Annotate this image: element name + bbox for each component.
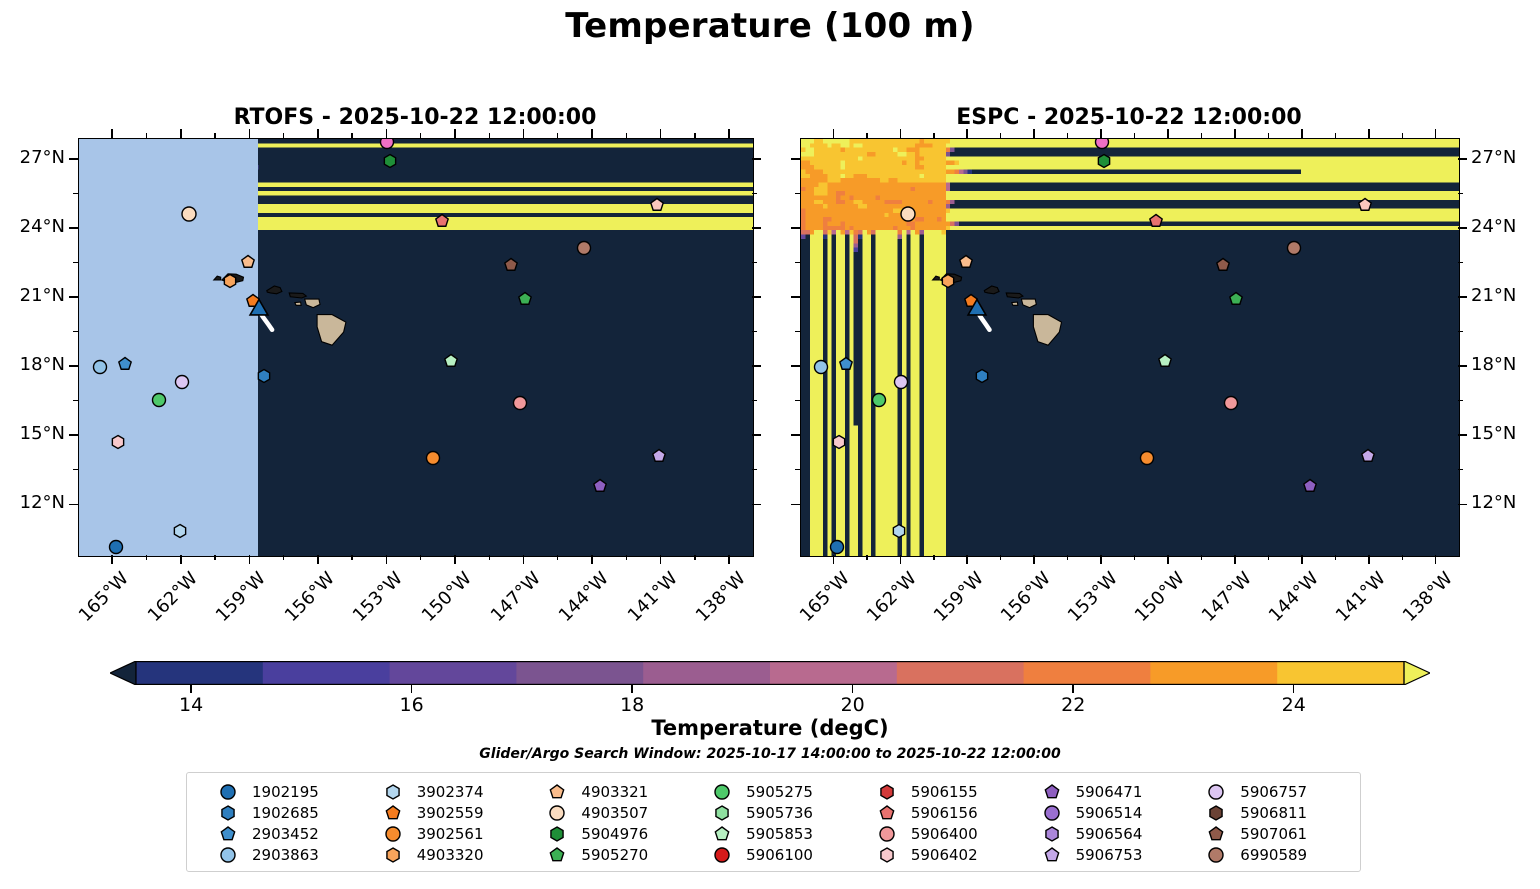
legend-label: 1902685 bbox=[252, 804, 319, 822]
colorbar-tick bbox=[852, 685, 854, 693]
x-tick-minor bbox=[1201, 555, 1202, 560]
legend-label: 5905270 bbox=[581, 846, 648, 864]
x-tick-minor bbox=[1268, 555, 1269, 560]
x-tick-minor-top bbox=[933, 133, 934, 138]
x-tick-major-top bbox=[523, 129, 525, 138]
map-marker-5906757[interactable] bbox=[893, 374, 910, 391]
legend-marker-pentagon-icon bbox=[542, 782, 572, 802]
x-tick-minor-top bbox=[146, 133, 147, 138]
x-tick-major bbox=[1234, 555, 1236, 564]
y-tick-minor-right bbox=[1458, 400, 1463, 401]
legend-marker-pentagon-icon bbox=[213, 824, 243, 844]
x-tick-minor bbox=[626, 555, 627, 560]
colorbar-tick-label: 14 bbox=[179, 694, 203, 716]
x-tick-major-top bbox=[1234, 129, 1236, 138]
y-tick-major-right bbox=[1458, 434, 1467, 436]
legend-item-4903320[interactable]: 4903320 bbox=[362, 845, 527, 865]
x-tick-minor bbox=[1067, 555, 1068, 560]
legend-marker-circle-icon bbox=[378, 824, 408, 844]
legend-marker-pentagon-icon bbox=[872, 803, 902, 823]
map-marker-1902195[interactable] bbox=[828, 538, 845, 555]
legend-label: 1902195 bbox=[252, 783, 319, 801]
map-marker-3902561[interactable] bbox=[1138, 450, 1155, 467]
legend-label: 3902374 bbox=[417, 783, 484, 801]
colorbar-tick-label: 20 bbox=[841, 694, 865, 716]
map-marker-4903321[interactable] bbox=[240, 254, 257, 271]
legend-marker-circle-icon bbox=[213, 845, 243, 865]
x-tick-minor bbox=[694, 555, 695, 560]
legend-item-1902195[interactable]: 1902195 bbox=[197, 782, 362, 802]
x-tick-major-top bbox=[180, 129, 182, 138]
legend-item-3902561[interactable]: 3902561 bbox=[362, 824, 527, 844]
legend-label: 5906564 bbox=[1076, 825, 1143, 843]
y-tick-minor-right bbox=[752, 331, 757, 332]
legend-label: 6990589 bbox=[1240, 846, 1307, 864]
y-tick-minor bbox=[795, 331, 800, 332]
map-marker-5905270[interactable] bbox=[516, 291, 533, 308]
map-marker-5906471[interactable] bbox=[1301, 477, 1318, 494]
figure-title: Temperature (100 m) bbox=[0, 6, 1540, 46]
map-marker-5906757[interactable] bbox=[173, 374, 190, 391]
y-tick-major bbox=[791, 296, 800, 298]
legend-item-5906156[interactable]: 5906156 bbox=[856, 803, 1021, 823]
panel-title-espc: ESPC - 2025-10-22 12:00:00 bbox=[800, 105, 1458, 130]
map-marker-5906471[interactable] bbox=[591, 477, 608, 494]
x-tick-major-top bbox=[1368, 129, 1370, 138]
x-tick-minor bbox=[146, 555, 147, 560]
colorbar-segment bbox=[1150, 661, 1277, 685]
y-tick-major-right bbox=[1458, 296, 1467, 298]
legend-marker-circle-icon bbox=[707, 845, 737, 865]
map-marker-5906156[interactable] bbox=[434, 212, 451, 229]
map-marker-sg626[interactable] bbox=[249, 298, 270, 319]
legend-label: 5906753 bbox=[1076, 846, 1143, 864]
y-tick-minor bbox=[73, 331, 78, 332]
legend-marker-hexagon-icon bbox=[707, 803, 737, 823]
map-marker-2903452[interactable] bbox=[837, 355, 854, 372]
x-tick-minor bbox=[1000, 555, 1001, 560]
legend-label: 5906155 bbox=[911, 783, 978, 801]
y-tick-minor-right bbox=[752, 193, 757, 194]
x-tick-minor bbox=[214, 555, 215, 560]
y-tick-label: 27°N bbox=[1471, 147, 1540, 168]
x-tick-minor bbox=[557, 555, 558, 560]
y-tick-major bbox=[791, 434, 800, 436]
y-tick-major bbox=[69, 434, 78, 436]
y-tick-minor-right bbox=[752, 262, 757, 263]
legend-label: 4903321 bbox=[581, 783, 648, 801]
map-marker-5906156[interactable] bbox=[1147, 212, 1164, 229]
colorbar-segment bbox=[263, 661, 390, 685]
legend-item-5904976[interactable]: 5904976 bbox=[526, 824, 691, 844]
x-tick-minor bbox=[1402, 555, 1403, 560]
colorbar-segment bbox=[390, 661, 517, 685]
map-marker-6990589[interactable] bbox=[1285, 240, 1302, 257]
x-tick-major bbox=[180, 555, 182, 564]
y-tick-major bbox=[69, 504, 78, 506]
x-tick-major bbox=[1100, 555, 1102, 564]
y-tick-major bbox=[69, 227, 78, 229]
x-tick-major bbox=[111, 555, 113, 564]
legend-item-1902685[interactable]: 1902685 bbox=[197, 803, 362, 823]
legend-label: 3902561 bbox=[417, 825, 484, 843]
x-tick-major bbox=[660, 555, 662, 564]
x-tick-major bbox=[523, 555, 525, 564]
colorbar-segment bbox=[516, 661, 643, 685]
x-tick-minor-top bbox=[214, 133, 215, 138]
y-tick-label: 12°N bbox=[1471, 492, 1540, 513]
y-tick-major-right bbox=[752, 434, 761, 436]
legend-item-5906471[interactable]: 5906471 bbox=[1021, 782, 1186, 802]
y-tick-major-right bbox=[752, 365, 761, 367]
map-marker-5906402[interactable] bbox=[109, 433, 126, 450]
legend-item-5906753[interactable]: 5906753 bbox=[1021, 845, 1186, 865]
map-marker-2903863[interactable] bbox=[91, 359, 108, 376]
colorbar-tick bbox=[411, 685, 413, 693]
map-marker-5906753[interactable] bbox=[1359, 447, 1376, 464]
island-outline bbox=[933, 276, 940, 280]
x-tick-major-top bbox=[1100, 129, 1102, 138]
map-axes-espc[interactable] bbox=[800, 138, 1460, 557]
map-marker-7902266[interactable] bbox=[1094, 138, 1111, 151]
map-marker-5904976[interactable] bbox=[1096, 152, 1113, 169]
legend-item-5906402[interactable]: 5906402 bbox=[856, 845, 1021, 865]
y-tick-minor bbox=[73, 400, 78, 401]
x-tick-minor-top bbox=[351, 133, 352, 138]
legend-label: 2903863 bbox=[252, 846, 319, 864]
x-tick-minor bbox=[1335, 555, 1336, 560]
map-marker-7902266[interactable] bbox=[379, 138, 396, 151]
map-marker-1902685[interactable] bbox=[973, 368, 990, 385]
map-marker-6990589[interactable] bbox=[575, 240, 592, 257]
colorbar-tick bbox=[1072, 685, 1074, 693]
panel-title-rtofs: RTOFS - 2025-10-22 12:00:00 bbox=[78, 105, 752, 130]
legend-marker-hexagon-icon bbox=[1201, 803, 1231, 823]
legend-item-4903321[interactable]: 4903321 bbox=[526, 782, 691, 802]
legend-marker-circle-icon bbox=[872, 824, 902, 844]
legend-marker-circle-icon bbox=[1201, 782, 1231, 802]
legend-label: 5905853 bbox=[746, 825, 813, 843]
island-outline bbox=[289, 293, 306, 298]
map-marker-2903863[interactable] bbox=[813, 359, 830, 376]
colorbar-label: Temperature (degC) bbox=[0, 716, 1540, 740]
colorbar-extend-low bbox=[110, 661, 136, 685]
map-marker-5906400[interactable] bbox=[1223, 394, 1240, 411]
map-marker-4903320[interactable] bbox=[221, 272, 238, 289]
y-tick-major-right bbox=[1458, 365, 1467, 367]
map-marker-5906402[interactable] bbox=[830, 433, 847, 450]
y-tick-major bbox=[69, 296, 78, 298]
island-outline bbox=[984, 286, 999, 294]
legend-item-5905275[interactable]: 5905275 bbox=[691, 782, 856, 802]
x-tick-major bbox=[1435, 555, 1437, 564]
y-tick-minor-right bbox=[1458, 469, 1463, 470]
legend-label: 5906402 bbox=[911, 846, 978, 864]
x-tick-major-top bbox=[1167, 129, 1169, 138]
x-tick-minor-top bbox=[1335, 133, 1336, 138]
legend-item-5906155[interactable]: 5906155 bbox=[856, 782, 1021, 802]
colorbar-tick-label: 24 bbox=[1282, 694, 1306, 716]
legend-marker-circle-icon bbox=[707, 782, 737, 802]
legend-label: 5906156 bbox=[911, 804, 978, 822]
island-outline bbox=[1033, 315, 1061, 346]
colorbar-tick-label: 16 bbox=[400, 694, 424, 716]
y-tick-label: 18°N bbox=[0, 354, 65, 375]
colorbar-tick bbox=[631, 685, 633, 693]
legend-marker-hexagon-icon bbox=[872, 845, 902, 865]
x-tick-minor bbox=[1134, 555, 1135, 560]
legend-marker-circle-icon bbox=[213, 782, 243, 802]
x-tick-major bbox=[591, 555, 593, 564]
legend-marker-hexagon-icon bbox=[378, 782, 408, 802]
legend-item-5905853[interactable]: 5905853 bbox=[691, 824, 856, 844]
x-tick-major bbox=[966, 555, 968, 564]
legend-marker-circle-icon bbox=[1037, 803, 1067, 823]
x-tick-minor-top bbox=[420, 133, 421, 138]
legend-marker-pentagon-icon bbox=[707, 824, 737, 844]
x-tick-major-top bbox=[317, 129, 319, 138]
legend-marker-pentagon-icon bbox=[1201, 824, 1231, 844]
y-tick-minor-right bbox=[1458, 331, 1463, 332]
map-marker-4903507[interactable] bbox=[899, 205, 917, 223]
x-tick-minor-top bbox=[694, 133, 695, 138]
colorbar-segment bbox=[897, 661, 1024, 685]
x-tick-minor bbox=[866, 555, 867, 560]
legend-marker-pentagon-icon bbox=[1037, 782, 1067, 802]
island-outline bbox=[317, 315, 346, 346]
legend-label: 3902559 bbox=[417, 804, 484, 822]
x-tick-minor-top bbox=[557, 133, 558, 138]
legend-label: 5906471 bbox=[1076, 783, 1143, 801]
x-tick-major bbox=[1167, 555, 1169, 564]
map-marker-1902685[interactable] bbox=[256, 368, 273, 385]
y-tick-minor bbox=[73, 193, 78, 194]
island-outline bbox=[214, 276, 221, 280]
x-tick-major-top bbox=[1435, 129, 1437, 138]
legend-label: 5906811 bbox=[1240, 804, 1307, 822]
colorbar-segment bbox=[136, 661, 263, 685]
map-marker-5904976[interactable] bbox=[381, 152, 398, 169]
x-tick-major bbox=[1033, 555, 1035, 564]
legend-item-5906100[interactable]: 5906100 bbox=[691, 845, 856, 865]
x-tick-minor-top bbox=[1201, 133, 1202, 138]
legend-item-5906564[interactable]: 5906564 bbox=[1021, 824, 1186, 844]
x-tick-major bbox=[728, 555, 730, 564]
island-outline bbox=[1006, 293, 1023, 298]
x-tick-major-top bbox=[660, 129, 662, 138]
x-tick-major-top bbox=[900, 129, 902, 138]
map-marker-4903507[interactable] bbox=[180, 205, 198, 223]
y-tick-label: 15°N bbox=[1471, 423, 1540, 444]
legend-grid: 1902195190268529034522903863390237439025… bbox=[197, 781, 1350, 865]
y-tick-major-right bbox=[752, 504, 761, 506]
x-tick-minor-top bbox=[626, 133, 627, 138]
x-tick-minor-top bbox=[1402, 133, 1403, 138]
legend-marker-hexagon-icon bbox=[872, 782, 902, 802]
colorbar-tick-label: 18 bbox=[620, 694, 644, 716]
legend-item-5906757[interactable]: 5906757 bbox=[1185, 782, 1350, 802]
y-tick-label: 21°N bbox=[1471, 285, 1540, 306]
legend-item-4903507[interactable]: 4903507 bbox=[526, 803, 691, 823]
colorbar-extend-high bbox=[1404, 661, 1430, 685]
y-tick-major-right bbox=[752, 227, 761, 229]
y-tick-minor bbox=[795, 193, 800, 194]
map-marker-4903321[interactable] bbox=[958, 254, 975, 271]
legend-item-2903452[interactable]: 2903452 bbox=[197, 824, 362, 844]
y-tick-major bbox=[69, 158, 78, 160]
y-tick-major-right bbox=[1458, 227, 1467, 229]
y-tick-major-right bbox=[1458, 158, 1467, 160]
legend-marker-hexagon-icon bbox=[213, 803, 243, 823]
map-marker-5906753[interactable] bbox=[651, 447, 668, 464]
y-tick-major bbox=[791, 365, 800, 367]
map-axes-rtofs[interactable] bbox=[78, 138, 754, 557]
x-tick-major-top bbox=[249, 129, 251, 138]
x-tick-major bbox=[454, 555, 456, 564]
y-tick-minor bbox=[795, 262, 800, 263]
y-tick-major bbox=[69, 365, 78, 367]
x-tick-major bbox=[386, 555, 388, 564]
legend-marker-hexagon-icon bbox=[1037, 824, 1067, 844]
x-tick-major bbox=[833, 555, 835, 564]
x-tick-major-top bbox=[454, 129, 456, 138]
legend-marker-pentagon-icon bbox=[542, 845, 572, 865]
y-tick-label: 18°N bbox=[1471, 354, 1540, 375]
map-marker-3902561[interactable] bbox=[425, 450, 442, 467]
x-tick-major-top bbox=[728, 129, 730, 138]
map-marker-3902374[interactable] bbox=[171, 522, 188, 539]
legend-item-5906400[interactable]: 5906400 bbox=[856, 824, 1021, 844]
legend-label: 2903452 bbox=[252, 825, 319, 843]
map-marker-7901106[interactable] bbox=[1357, 196, 1374, 213]
x-tick-major bbox=[317, 555, 319, 564]
map-marker-5907061[interactable] bbox=[502, 256, 519, 273]
x-tick-major bbox=[1301, 555, 1303, 564]
island-outline bbox=[267, 286, 282, 294]
x-tick-minor-top bbox=[1134, 133, 1135, 138]
legend-item-6990589[interactable]: 6990589 bbox=[1185, 845, 1350, 865]
map-marker-5905853[interactable] bbox=[1156, 353, 1173, 370]
marker-legend: 1902195190268529034522903863390237439025… bbox=[186, 772, 1361, 872]
y-tick-minor bbox=[73, 262, 78, 263]
y-tick-label: 27°N bbox=[0, 147, 65, 168]
colorbar-gradient bbox=[110, 661, 1430, 685]
colorbar bbox=[110, 661, 1430, 685]
map-marker-4903320[interactable] bbox=[940, 272, 957, 289]
legend-marker-circle-icon bbox=[542, 803, 572, 823]
legend-item-5905270[interactable]: 5905270 bbox=[526, 845, 691, 865]
legend-item-5906514[interactable]: 5906514 bbox=[1021, 803, 1186, 823]
x-tick-minor bbox=[351, 555, 352, 560]
y-tick-minor-right bbox=[752, 469, 757, 470]
y-tick-label: 12°N bbox=[0, 492, 65, 513]
y-tick-major bbox=[791, 158, 800, 160]
map-marker-5905275[interactable] bbox=[871, 392, 888, 409]
y-tick-label: 24°N bbox=[0, 216, 65, 237]
colorbar-segment bbox=[1277, 661, 1404, 685]
x-tick-minor bbox=[933, 555, 934, 560]
x-tick-minor-top bbox=[1000, 133, 1001, 138]
x-tick-minor bbox=[420, 555, 421, 560]
x-tick-major-top bbox=[833, 129, 835, 138]
legend-label: 4903507 bbox=[581, 804, 648, 822]
legend-label: 5905736 bbox=[746, 804, 813, 822]
x-tick-minor bbox=[283, 555, 284, 560]
x-tick-minor-top bbox=[866, 133, 867, 138]
map-marker-sg626[interactable] bbox=[967, 298, 988, 319]
x-tick-minor-top bbox=[1067, 133, 1068, 138]
colorbar-tick-label: 22 bbox=[1061, 694, 1085, 716]
map-marker-5905270[interactable] bbox=[1227, 291, 1244, 308]
legend-label: 5906400 bbox=[911, 825, 978, 843]
x-tick-major-top bbox=[966, 129, 968, 138]
legend-item-5907061[interactable]: 5907061 bbox=[1185, 824, 1350, 844]
map-marker-5907061[interactable] bbox=[1214, 256, 1231, 273]
legend-item-5905736[interactable]: 5905736 bbox=[691, 803, 856, 823]
legend-marker-hexagon-icon bbox=[378, 845, 408, 865]
x-tick-minor bbox=[489, 555, 490, 560]
map-marker-2903452[interactable] bbox=[116, 355, 133, 372]
map-marker-1902195[interactable] bbox=[107, 538, 124, 555]
x-tick-minor-top bbox=[489, 133, 490, 138]
y-tick-minor bbox=[795, 400, 800, 401]
colorbar-tick bbox=[1293, 685, 1295, 693]
map-marker-5905853[interactable] bbox=[443, 353, 460, 370]
legend-item-3902374[interactable]: 3902374 bbox=[362, 782, 527, 802]
legend-marker-pentagon-icon bbox=[1037, 845, 1067, 865]
colorbar-segment bbox=[770, 661, 897, 685]
map-marker-3902374[interactable] bbox=[891, 522, 908, 539]
island-outline bbox=[305, 299, 320, 308]
island-outline bbox=[295, 302, 301, 305]
y-tick-minor bbox=[795, 469, 800, 470]
y-tick-major-right bbox=[1458, 504, 1467, 506]
map-marker-7901106[interactable] bbox=[649, 196, 666, 213]
y-tick-major bbox=[791, 504, 800, 506]
map-marker-5906400[interactable] bbox=[511, 394, 528, 411]
x-tick-major-top bbox=[111, 129, 113, 138]
legend-item-2903863[interactable]: 2903863 bbox=[197, 845, 362, 865]
y-tick-minor-right bbox=[1458, 262, 1463, 263]
legend-marker-circle-icon bbox=[1201, 845, 1231, 865]
x-tick-major-top bbox=[591, 129, 593, 138]
legend-label: 5906514 bbox=[1076, 804, 1143, 822]
colorbar-segment bbox=[1024, 661, 1151, 685]
y-tick-label: 15°N bbox=[0, 423, 65, 444]
legend-label: 5906757 bbox=[1240, 783, 1307, 801]
x-tick-major-top bbox=[1301, 129, 1303, 138]
colorbar-tick bbox=[190, 685, 192, 693]
x-tick-major bbox=[1368, 555, 1370, 564]
y-tick-major-right bbox=[752, 158, 761, 160]
legend-item-5906811[interactable]: 5906811 bbox=[1185, 803, 1350, 823]
legend-label: 4903320 bbox=[417, 846, 484, 864]
y-tick-label: 21°N bbox=[0, 285, 65, 306]
legend-marker-pentagon-icon bbox=[378, 803, 408, 823]
y-tick-minor bbox=[73, 469, 78, 470]
y-tick-major bbox=[791, 227, 800, 229]
island-outline bbox=[1021, 299, 1036, 308]
map-marker-5905275[interactable] bbox=[150, 392, 167, 409]
legend-label: 5907061 bbox=[1240, 825, 1307, 843]
x-tick-major bbox=[900, 555, 902, 564]
x-tick-minor-top bbox=[1268, 133, 1269, 138]
legend-item-3902559[interactable]: 3902559 bbox=[362, 803, 527, 823]
legend-label: 5906100 bbox=[746, 846, 813, 864]
colorbar-segment bbox=[643, 661, 770, 685]
y-tick-minor-right bbox=[1458, 193, 1463, 194]
search-window-text: Glider/Argo Search Window: 2025-10-17 14… bbox=[0, 746, 1540, 762]
